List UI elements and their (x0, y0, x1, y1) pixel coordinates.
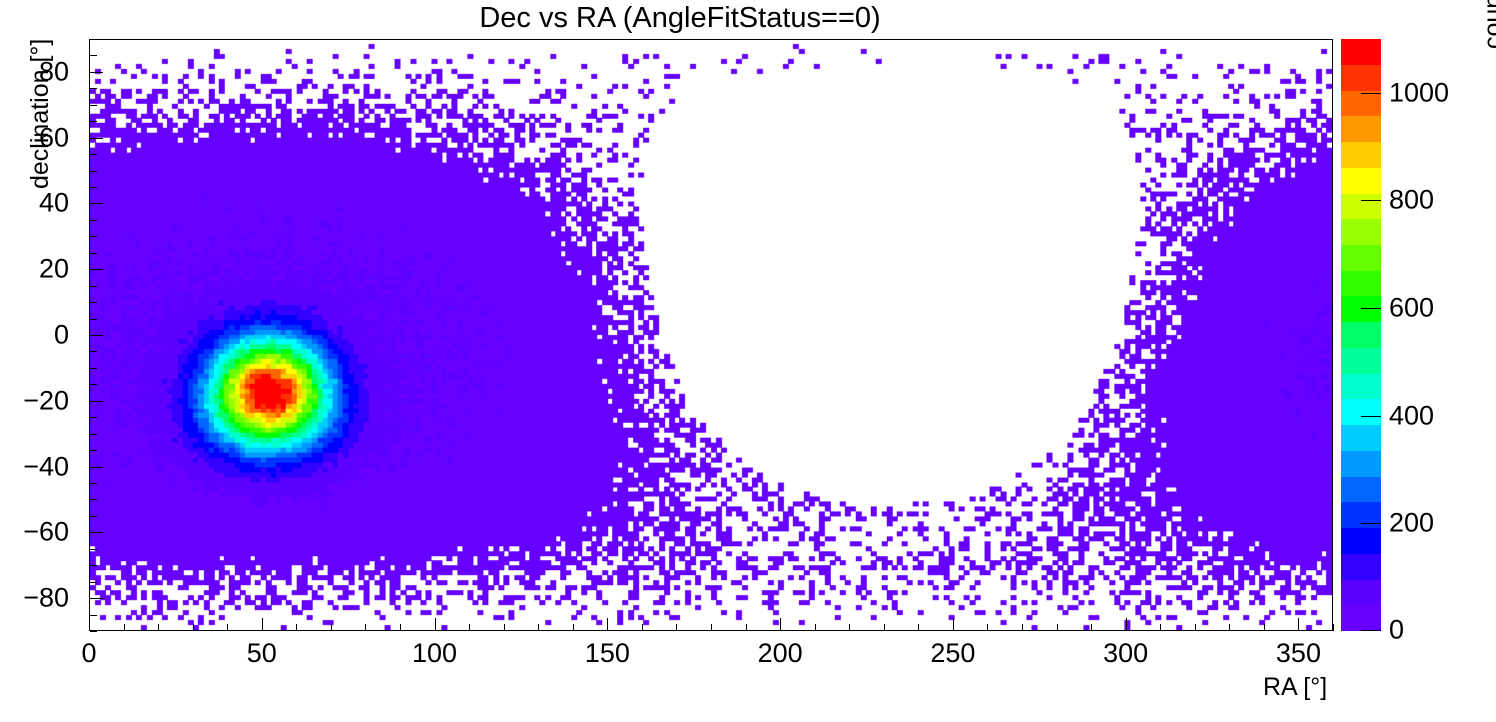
x-tick (676, 624, 677, 631)
x-tick (1126, 618, 1127, 631)
x-tick (1298, 618, 1299, 631)
x-tick (849, 624, 850, 631)
z-tick (1361, 93, 1381, 94)
palette-band (1341, 194, 1381, 220)
y-tick (90, 335, 103, 336)
palette-band (1341, 348, 1381, 374)
z-tick-label: 200 (1389, 508, 1434, 539)
x-tick (435, 618, 436, 631)
x-tick-label: 200 (758, 638, 803, 669)
x-tick (573, 624, 574, 631)
y-tick (90, 598, 103, 599)
x-tick (400, 624, 401, 631)
y-tick (90, 532, 103, 533)
x-tick (124, 624, 125, 631)
y-tick-label: 40 (0, 188, 69, 219)
z-tick (1361, 200, 1381, 201)
y-tick (90, 55, 97, 56)
y-tick (90, 549, 97, 550)
y-tick (90, 171, 97, 172)
y-tick (90, 384, 97, 385)
z-tick (1361, 308, 1381, 309)
x-tick (504, 624, 505, 631)
palette-band (1341, 91, 1381, 117)
y-tick-label: −80 (0, 583, 69, 614)
y-tick (90, 203, 103, 204)
palette-band (1341, 477, 1381, 503)
x-tick-label: 0 (81, 638, 96, 669)
palette-band (1341, 502, 1381, 528)
y-tick (90, 499, 97, 500)
heatmap-data-area (90, 40, 1332, 630)
palette-band (1341, 168, 1381, 194)
y-tick (90, 187, 97, 188)
x-tick (365, 624, 366, 631)
x-tick-label: 300 (1103, 638, 1148, 669)
z-tick (1361, 416, 1381, 417)
y-tick (90, 401, 103, 402)
x-tick (1333, 624, 1334, 631)
x-tick-label: 350 (1276, 638, 1321, 669)
palette-band (1341, 580, 1381, 606)
x-tick (331, 624, 332, 631)
y-tick (90, 351, 97, 352)
color-scale-title: count (1479, 0, 1496, 49)
palette-band (1341, 554, 1381, 580)
x-tick (711, 624, 712, 631)
x-tick (227, 624, 228, 631)
x-tick (262, 618, 263, 631)
x-tick-label: 150 (585, 638, 630, 669)
plot-frame (89, 39, 1333, 631)
y-tick-label: −40 (0, 451, 69, 482)
z-tick-label: 1000 (1389, 78, 1449, 109)
palette-band (1341, 451, 1381, 477)
palette-band (1341, 399, 1381, 425)
y-tick (90, 434, 97, 435)
palette-band (1341, 374, 1381, 400)
x-tick (642, 624, 643, 631)
palette-band (1341, 528, 1381, 554)
y-tick (90, 615, 97, 616)
chart-canvas: Dec vs RA (AngleFitStatus==0) RA [°] dec… (0, 0, 1496, 722)
z-tick-label: 400 (1389, 401, 1434, 432)
y-tick (90, 72, 103, 73)
z-tick-label: 600 (1389, 293, 1434, 324)
x-tick (918, 624, 919, 631)
z-tick-label: 800 (1389, 185, 1434, 216)
palette-band (1341, 296, 1381, 322)
y-tick (90, 269, 103, 270)
palette-band (1341, 425, 1381, 451)
x-tick (1022, 624, 1023, 631)
x-tick (469, 624, 470, 631)
y-tick (90, 121, 97, 122)
y-tick-label: −60 (0, 517, 69, 548)
x-tick (1091, 624, 1092, 631)
y-tick-label: −20 (0, 385, 69, 416)
y-tick (90, 39, 97, 40)
y-tick (90, 88, 97, 89)
x-tick (884, 624, 885, 631)
palette-band (1341, 65, 1381, 91)
x-tick (1264, 624, 1265, 631)
y-tick (90, 286, 97, 287)
x-tick-label: 100 (412, 638, 457, 669)
y-tick (90, 236, 97, 237)
palette-band (1341, 219, 1381, 245)
x-tick (607, 618, 608, 631)
x-tick-label: 250 (930, 638, 975, 669)
y-tick (90, 582, 97, 583)
x-tick (746, 624, 747, 631)
x-tick (538, 624, 539, 631)
y-tick (90, 467, 103, 468)
y-tick (90, 105, 97, 106)
z-tick (1361, 523, 1381, 524)
y-tick (90, 450, 97, 451)
palette-band (1341, 116, 1381, 142)
y-tick (90, 631, 97, 632)
y-tick (90, 516, 97, 517)
palette-band (1341, 271, 1381, 297)
x-tick (780, 618, 781, 631)
x-tick (1229, 624, 1230, 631)
x-tick (815, 624, 816, 631)
y-tick (90, 368, 97, 369)
palette-band (1341, 39, 1381, 65)
y-tick-label: 60 (0, 122, 69, 153)
y-tick-label: 80 (0, 56, 69, 87)
x-tick (193, 624, 194, 631)
y-tick (90, 417, 97, 418)
palette-band (1341, 245, 1381, 271)
x-tick (1195, 624, 1196, 631)
color-scale-bar (1341, 39, 1381, 631)
x-axis-title: RA [°] (1263, 673, 1327, 702)
palette-band (1341, 605, 1381, 631)
x-tick-label: 50 (247, 638, 277, 669)
y-tick (90, 253, 97, 254)
x-tick (987, 624, 988, 631)
palette-band (1341, 322, 1381, 348)
x-tick (89, 618, 90, 631)
y-tick-label: 20 (0, 254, 69, 285)
y-tick (90, 319, 97, 320)
x-tick (296, 624, 297, 631)
x-tick (1057, 624, 1058, 631)
y-tick (90, 220, 97, 221)
x-tick (953, 618, 954, 631)
z-tick (1361, 630, 1381, 631)
y-tick (90, 565, 97, 566)
palette-band (1341, 142, 1381, 168)
y-tick (90, 302, 97, 303)
y-tick (90, 154, 97, 155)
y-tick (90, 483, 97, 484)
y-tick-label: 0 (0, 320, 69, 351)
y-tick (90, 138, 103, 139)
page-title: Dec vs RA (AngleFitStatus==0) (0, 2, 1360, 35)
z-tick-label: 0 (1389, 615, 1404, 646)
x-tick (158, 624, 159, 631)
x-tick (1160, 624, 1161, 631)
